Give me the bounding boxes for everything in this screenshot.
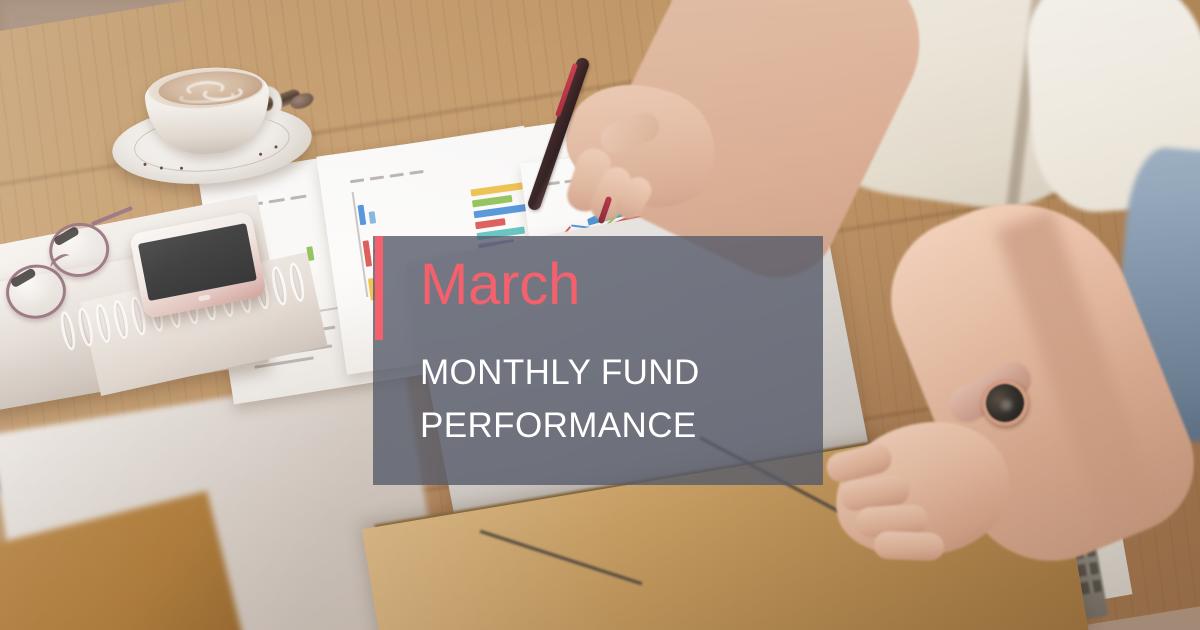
coffee-crema [157, 68, 263, 108]
banner-stage: March MONTHLY FUND PERFORMANCE [0, 0, 1200, 630]
title-overlay-panel: March MONTHLY FUND PERFORMANCE [373, 236, 823, 485]
finger [874, 531, 945, 561]
banner-subtitle: MONTHLY FUND PERFORMANCE [420, 346, 800, 452]
month-title: March [420, 254, 580, 317]
phone-home-button [198, 294, 211, 301]
phone-screen [138, 223, 257, 301]
accent-bar [375, 236, 383, 340]
